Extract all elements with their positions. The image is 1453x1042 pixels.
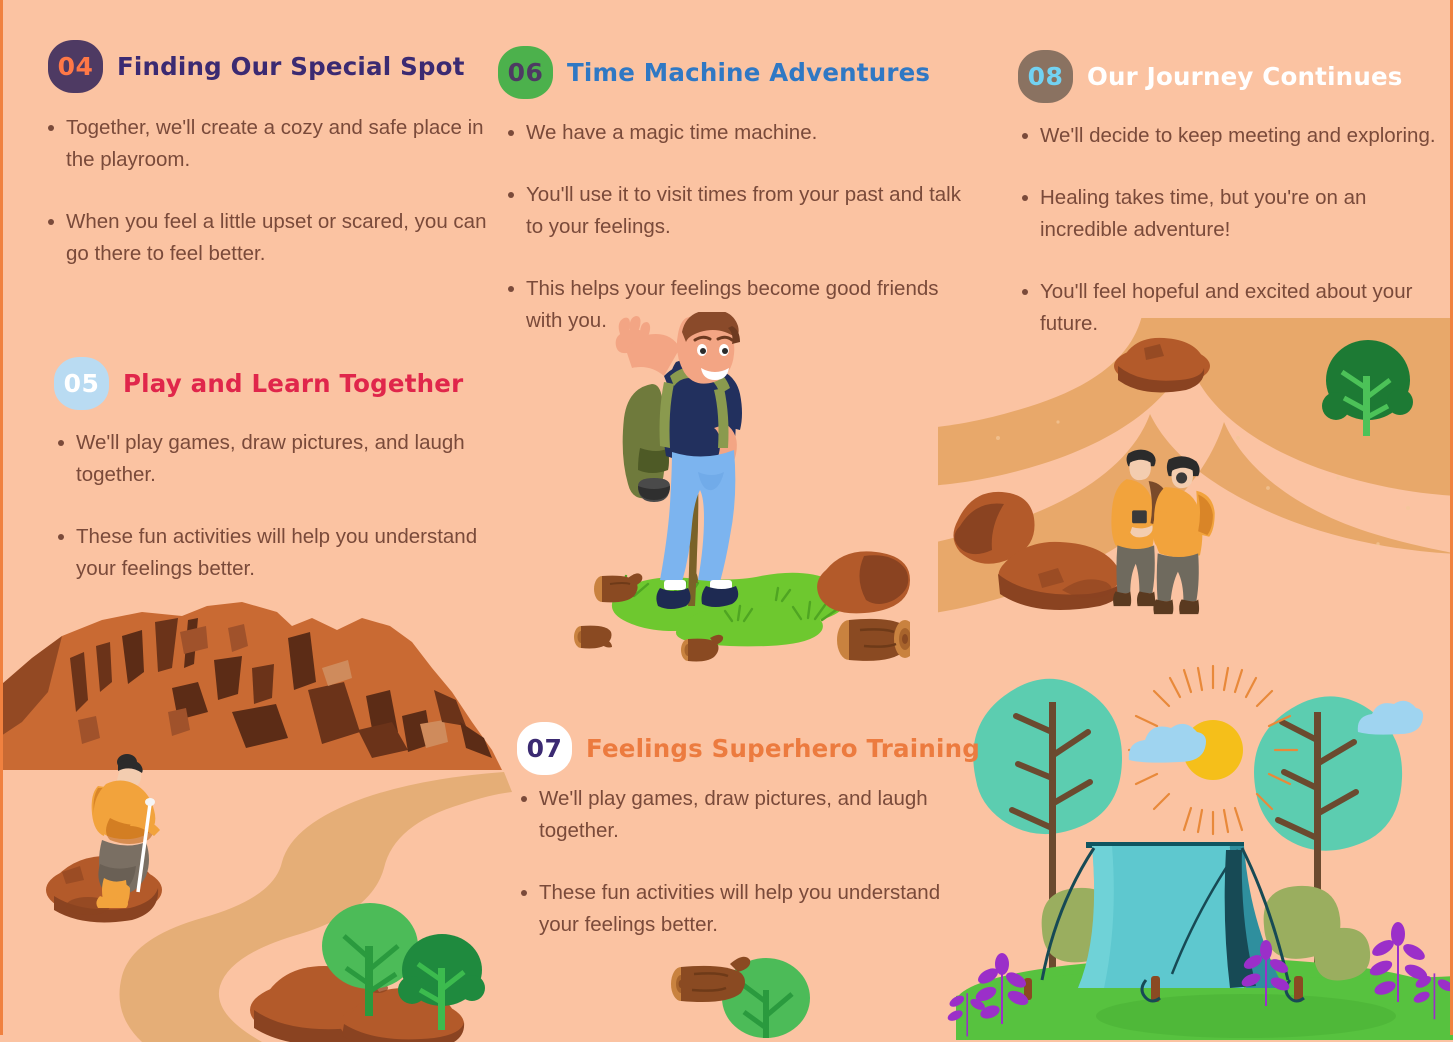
section-08-badge: 08: [1018, 50, 1073, 103]
list-item: Together, we'll create a cozy and safe p…: [48, 112, 508, 176]
list-item: We have a magic time machine.: [508, 117, 968, 149]
section-06: 06 Time Machine Adventures We have a mag…: [498, 46, 968, 337]
section-05-title: Play and Learn Together: [123, 369, 463, 398]
section-06-bullets: We have a magic time machine. You'll use…: [498, 117, 968, 337]
list-item: You'll use it to visit times from your p…: [508, 179, 968, 243]
content-layer: 04 Finding Our Special Spot Together, we…: [0, 0, 1453, 1035]
section-08-header: 08 Our Journey Continues: [1012, 50, 1452, 103]
list-item: This helps your feelings become good fri…: [508, 273, 968, 337]
section-04-title: Finding Our Special Spot: [117, 52, 465, 81]
section-04-header: 04 Finding Our Special Spot: [48, 40, 508, 93]
section-08-bullets: We'll decide to keep meeting and explori…: [1012, 120, 1452, 340]
section-04: 04 Finding Our Special Spot Together, we…: [48, 40, 508, 270]
section-07: 07 Feelings Superhero Training We'll pla…: [511, 722, 971, 941]
section-04-bullets: Together, we'll create a cozy and safe p…: [48, 112, 508, 270]
section-04-badge: 04: [48, 40, 103, 93]
list-item: You'll feel hopeful and excited about yo…: [1022, 276, 1452, 340]
section-06-title: Time Machine Adventures: [567, 58, 930, 87]
section-05-badge: 05: [54, 357, 109, 410]
section-08: 08 Our Journey Continues We'll decide to…: [1012, 50, 1452, 340]
section-07-badge: 07: [517, 722, 572, 775]
section-07-bullets: We'll play games, draw pictures, and lau…: [511, 783, 971, 941]
section-05: 05 Play and Learn Together We'll play ga…: [48, 357, 498, 585]
section-05-bullets: We'll play games, draw pictures, and lau…: [48, 427, 498, 585]
section-06-badge: 06: [498, 46, 553, 99]
list-item: Healing takes time, but you're on an inc…: [1022, 182, 1452, 246]
section-06-header: 06 Time Machine Adventures: [498, 46, 968, 99]
list-item: These fun activities will help you under…: [521, 877, 971, 941]
list-item: When you feel a little upset or scared, …: [48, 206, 508, 270]
list-item: These fun activities will help you under…: [58, 521, 498, 585]
list-item: We'll play games, draw pictures, and lau…: [58, 427, 498, 491]
left-edge-rule: [0, 0, 3, 1035]
list-item: We'll decide to keep meeting and explori…: [1022, 120, 1452, 152]
section-08-title: Our Journey Continues: [1087, 62, 1403, 91]
section-07-header: 07 Feelings Superhero Training: [511, 722, 971, 775]
section-07-title: Feelings Superhero Training: [586, 734, 980, 763]
section-05-header: 05 Play and Learn Together: [48, 357, 498, 410]
list-item: We'll play games, draw pictures, and lau…: [521, 783, 971, 847]
